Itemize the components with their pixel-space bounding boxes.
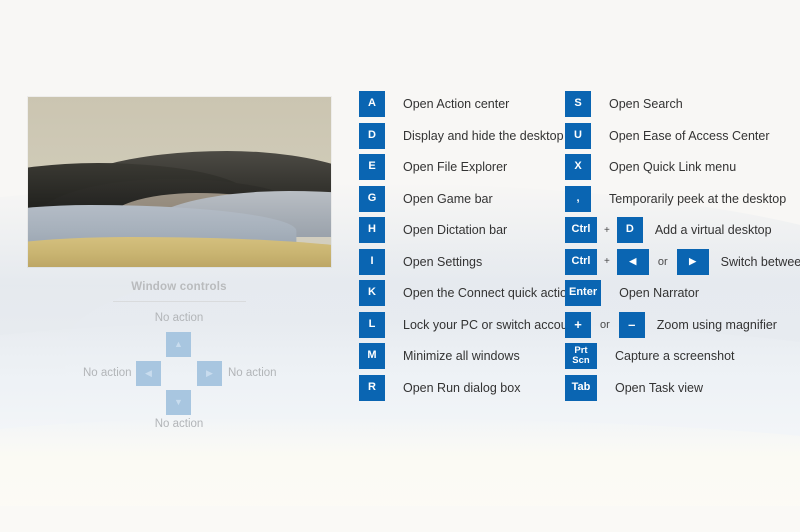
shortcut-row: AOpen Action center (359, 91, 584, 117)
keycap-h[interactable]: H (359, 217, 385, 243)
keycap-s[interactable]: S (565, 91, 591, 117)
shortcut-row: IOpen Settings (359, 249, 584, 275)
key-separator-or: or (649, 256, 677, 268)
shortcut-row: EOpen File Explorer (359, 154, 584, 180)
shortcut-description: Add a virtual desktop (643, 223, 772, 237)
keycap-i[interactable]: I (359, 249, 385, 275)
background-grass-cream (0, 417, 800, 532)
shortcut-description: Open Run dialog box (385, 381, 520, 395)
shortcut-row: ,Temporarily peek at the desktop (565, 186, 800, 212)
shortcut-description: Minimize all windows (385, 349, 520, 363)
arrow-up-glyph: ▲ (174, 340, 183, 349)
shortcut-description: Capture a screenshot (597, 349, 735, 363)
keycap-enter[interactable]: Enter (565, 280, 601, 306)
shortcut-description: Open Game bar (385, 192, 493, 206)
arrow-down-glyph: ▼ (174, 398, 183, 407)
background-floor (0, 506, 800, 532)
shortcut-description: Open Action center (385, 97, 509, 111)
shortcut-row: ROpen Run dialog box (359, 375, 584, 401)
shortcut-description: Open Quick Link menu (591, 160, 736, 174)
window-control-up-label: No action (0, 312, 358, 324)
keycap-minus[interactable]: – (619, 312, 645, 338)
arrow-right-glyph: ▶ (206, 369, 213, 378)
arrow-up-icon[interactable]: ▲ (166, 332, 191, 357)
window-control-left-label: No action (83, 367, 132, 379)
shortcut-row: KOpen the Connect quick action (359, 280, 584, 306)
window-control-right-label: No action (228, 367, 277, 379)
shortcut-list-left: AOpen Action centerDDisplay and hide the… (359, 91, 584, 406)
shortcut-row: DDisplay and hide the desktop (359, 123, 584, 149)
shortcut-row: MMinimize all windows (359, 343, 584, 369)
arrow-left-icon[interactable]: ◀ (136, 361, 161, 386)
arrow-down-icon[interactable]: ▼ (166, 390, 191, 415)
keycap-left-arrow[interactable]: ◀ (617, 249, 649, 275)
shortcut-description: Open Settings (385, 255, 482, 269)
shortcut-row: SOpen Search (565, 91, 800, 117)
keycap-tab[interactable]: Tab (565, 375, 597, 401)
keycap-ctrl[interactable]: Ctrl (565, 249, 597, 275)
shortcut-row: EnterOpen Narrator (565, 280, 800, 306)
key-separator-or: or (591, 319, 619, 331)
keycap-r[interactable]: R (359, 375, 385, 401)
shortcut-row: XOpen Quick Link menu (565, 154, 800, 180)
keycap-prt-scn[interactable]: PrtScn (565, 343, 597, 369)
shortcut-row: GOpen Game bar (359, 186, 584, 212)
shortcut-description: Open Narrator (601, 286, 699, 300)
shortcut-description: Lock your PC or switch accounts (385, 318, 584, 332)
shortcut-row: UOpen Ease of Access Center (565, 123, 800, 149)
keycap-d[interactable]: D (617, 217, 643, 243)
shortcut-row: PrtScnCapture a screenshot (565, 343, 800, 369)
keycap-comma[interactable]: , (565, 186, 591, 212)
keycap-e[interactable]: E (359, 154, 385, 180)
shortcut-description: Open Search (591, 97, 683, 111)
shortcut-description: Open Ease of Access Center (591, 129, 770, 143)
keycap-ctrl[interactable]: Ctrl (565, 217, 597, 243)
shortcut-description: Zoom using magnifier (645, 318, 777, 332)
shortcut-description: Open File Explorer (385, 160, 507, 174)
window-controls-title: Window controls (0, 281, 358, 293)
shortcut-description: Switch between (709, 255, 800, 269)
shortcut-row: TabOpen Task view (565, 375, 800, 401)
keycap-g[interactable]: G (359, 186, 385, 212)
window-controls-divider (113, 301, 246, 302)
shortcut-row: Ctrl+◀or▶Switch between (565, 249, 800, 275)
keycap-d[interactable]: D (359, 123, 385, 149)
keycap-u[interactable]: U (565, 123, 591, 149)
wallpaper-grass-gold (28, 237, 331, 267)
shortcut-description: Open the Connect quick action (385, 286, 574, 300)
keycap-k[interactable]: K (359, 280, 385, 306)
keycap-l[interactable]: L (359, 312, 385, 338)
keycap-plus[interactable]: + (565, 312, 591, 338)
window-controls-section: Window controls No action ▲ No action ◀ … (0, 281, 358, 434)
arrow-left-glyph: ◀ (145, 369, 152, 378)
shortcut-row: HOpen Dictation bar (359, 217, 584, 243)
shortcut-description: Open Task view (597, 381, 703, 395)
keycap-line: Scn (572, 356, 589, 366)
key-separator-plus: + (597, 225, 617, 236)
window-control-down-label: No action (0, 418, 358, 430)
keycap-right-arrow[interactable]: ▶ (677, 249, 709, 275)
shortcut-description: Display and hide the desktop (385, 129, 564, 143)
key-separator-plus: + (597, 256, 617, 267)
shortcut-row: LLock your PC or switch accounts (359, 312, 584, 338)
shortcut-description: Open Dictation bar (385, 223, 507, 237)
keycap-m[interactable]: M (359, 343, 385, 369)
keycap-x[interactable]: X (565, 154, 591, 180)
shortcut-row: +or–Zoom using magnifier (565, 312, 800, 338)
shortcut-row: Ctrl+DAdd a virtual desktop (565, 217, 800, 243)
arrow-right-icon[interactable]: ▶ (197, 361, 222, 386)
keycap-a[interactable]: A (359, 91, 385, 117)
shortcut-description: Temporarily peek at the desktop (591, 192, 786, 206)
shortcut-list-right: SOpen SearchUOpen Ease of Access CenterX… (565, 91, 800, 406)
window-controls-cross: No action ▲ No action ◀ ▶ No action ▼ No… (0, 306, 358, 434)
wallpaper-preview-image (28, 97, 331, 267)
